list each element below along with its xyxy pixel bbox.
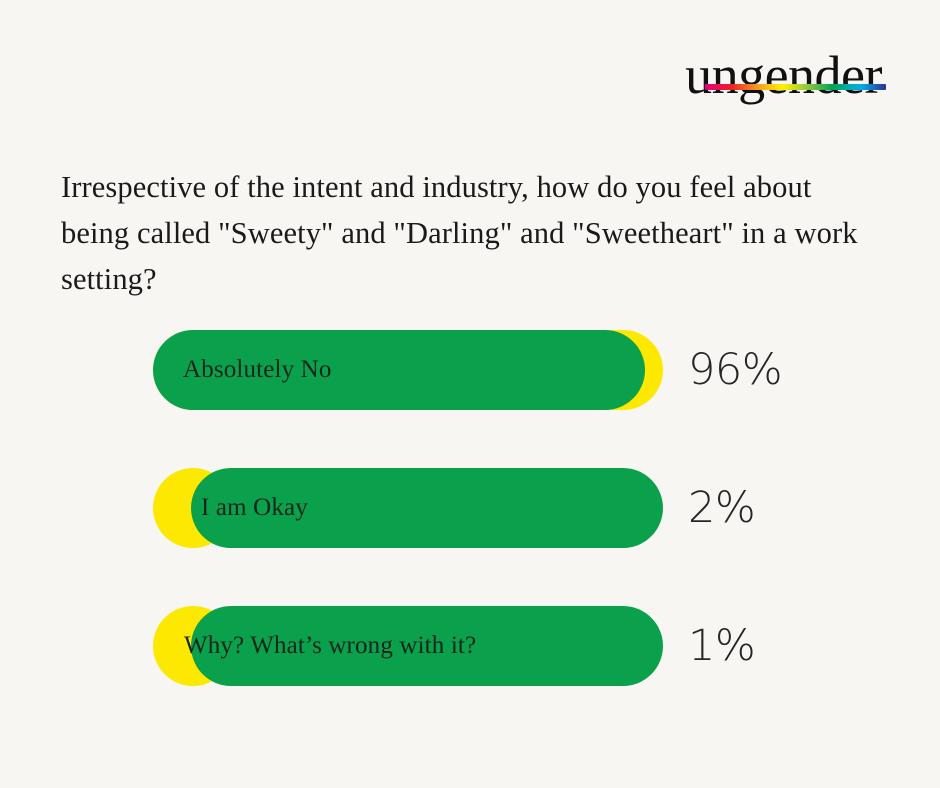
- bar-row: Absolutely No 96%: [0, 330, 940, 410]
- bar-track-area: I am Okay: [153, 468, 665, 548]
- bar-track-area: Why? What’s wrong with it?: [153, 606, 665, 686]
- bar-label: Absolutely No: [183, 330, 331, 410]
- bar-track-area: Absolutely No: [153, 330, 665, 410]
- bar-value-label: 1%: [688, 606, 755, 686]
- logo-wordmark: ungender: [685, 48, 882, 102]
- bar-row: Why? What’s wrong with it? 1%: [0, 606, 940, 686]
- bar-label: I am Okay: [201, 468, 308, 548]
- brand-logo: ungender: [683, 44, 884, 106]
- logo-lockup: ungender: [683, 48, 884, 102]
- poll-results-chart: Absolutely No 96% I am Okay 2% Why? What…: [0, 330, 940, 686]
- bar-value-label: 2%: [688, 468, 755, 548]
- rainbow-strikethrough-icon: [705, 84, 886, 90]
- bar-row: I am Okay 2%: [0, 468, 940, 548]
- bar-label: Why? What’s wrong with it?: [184, 606, 476, 686]
- bar-value-label: 96%: [688, 330, 782, 410]
- page-title: Irrespective of the intent and industry,…: [61, 164, 871, 302]
